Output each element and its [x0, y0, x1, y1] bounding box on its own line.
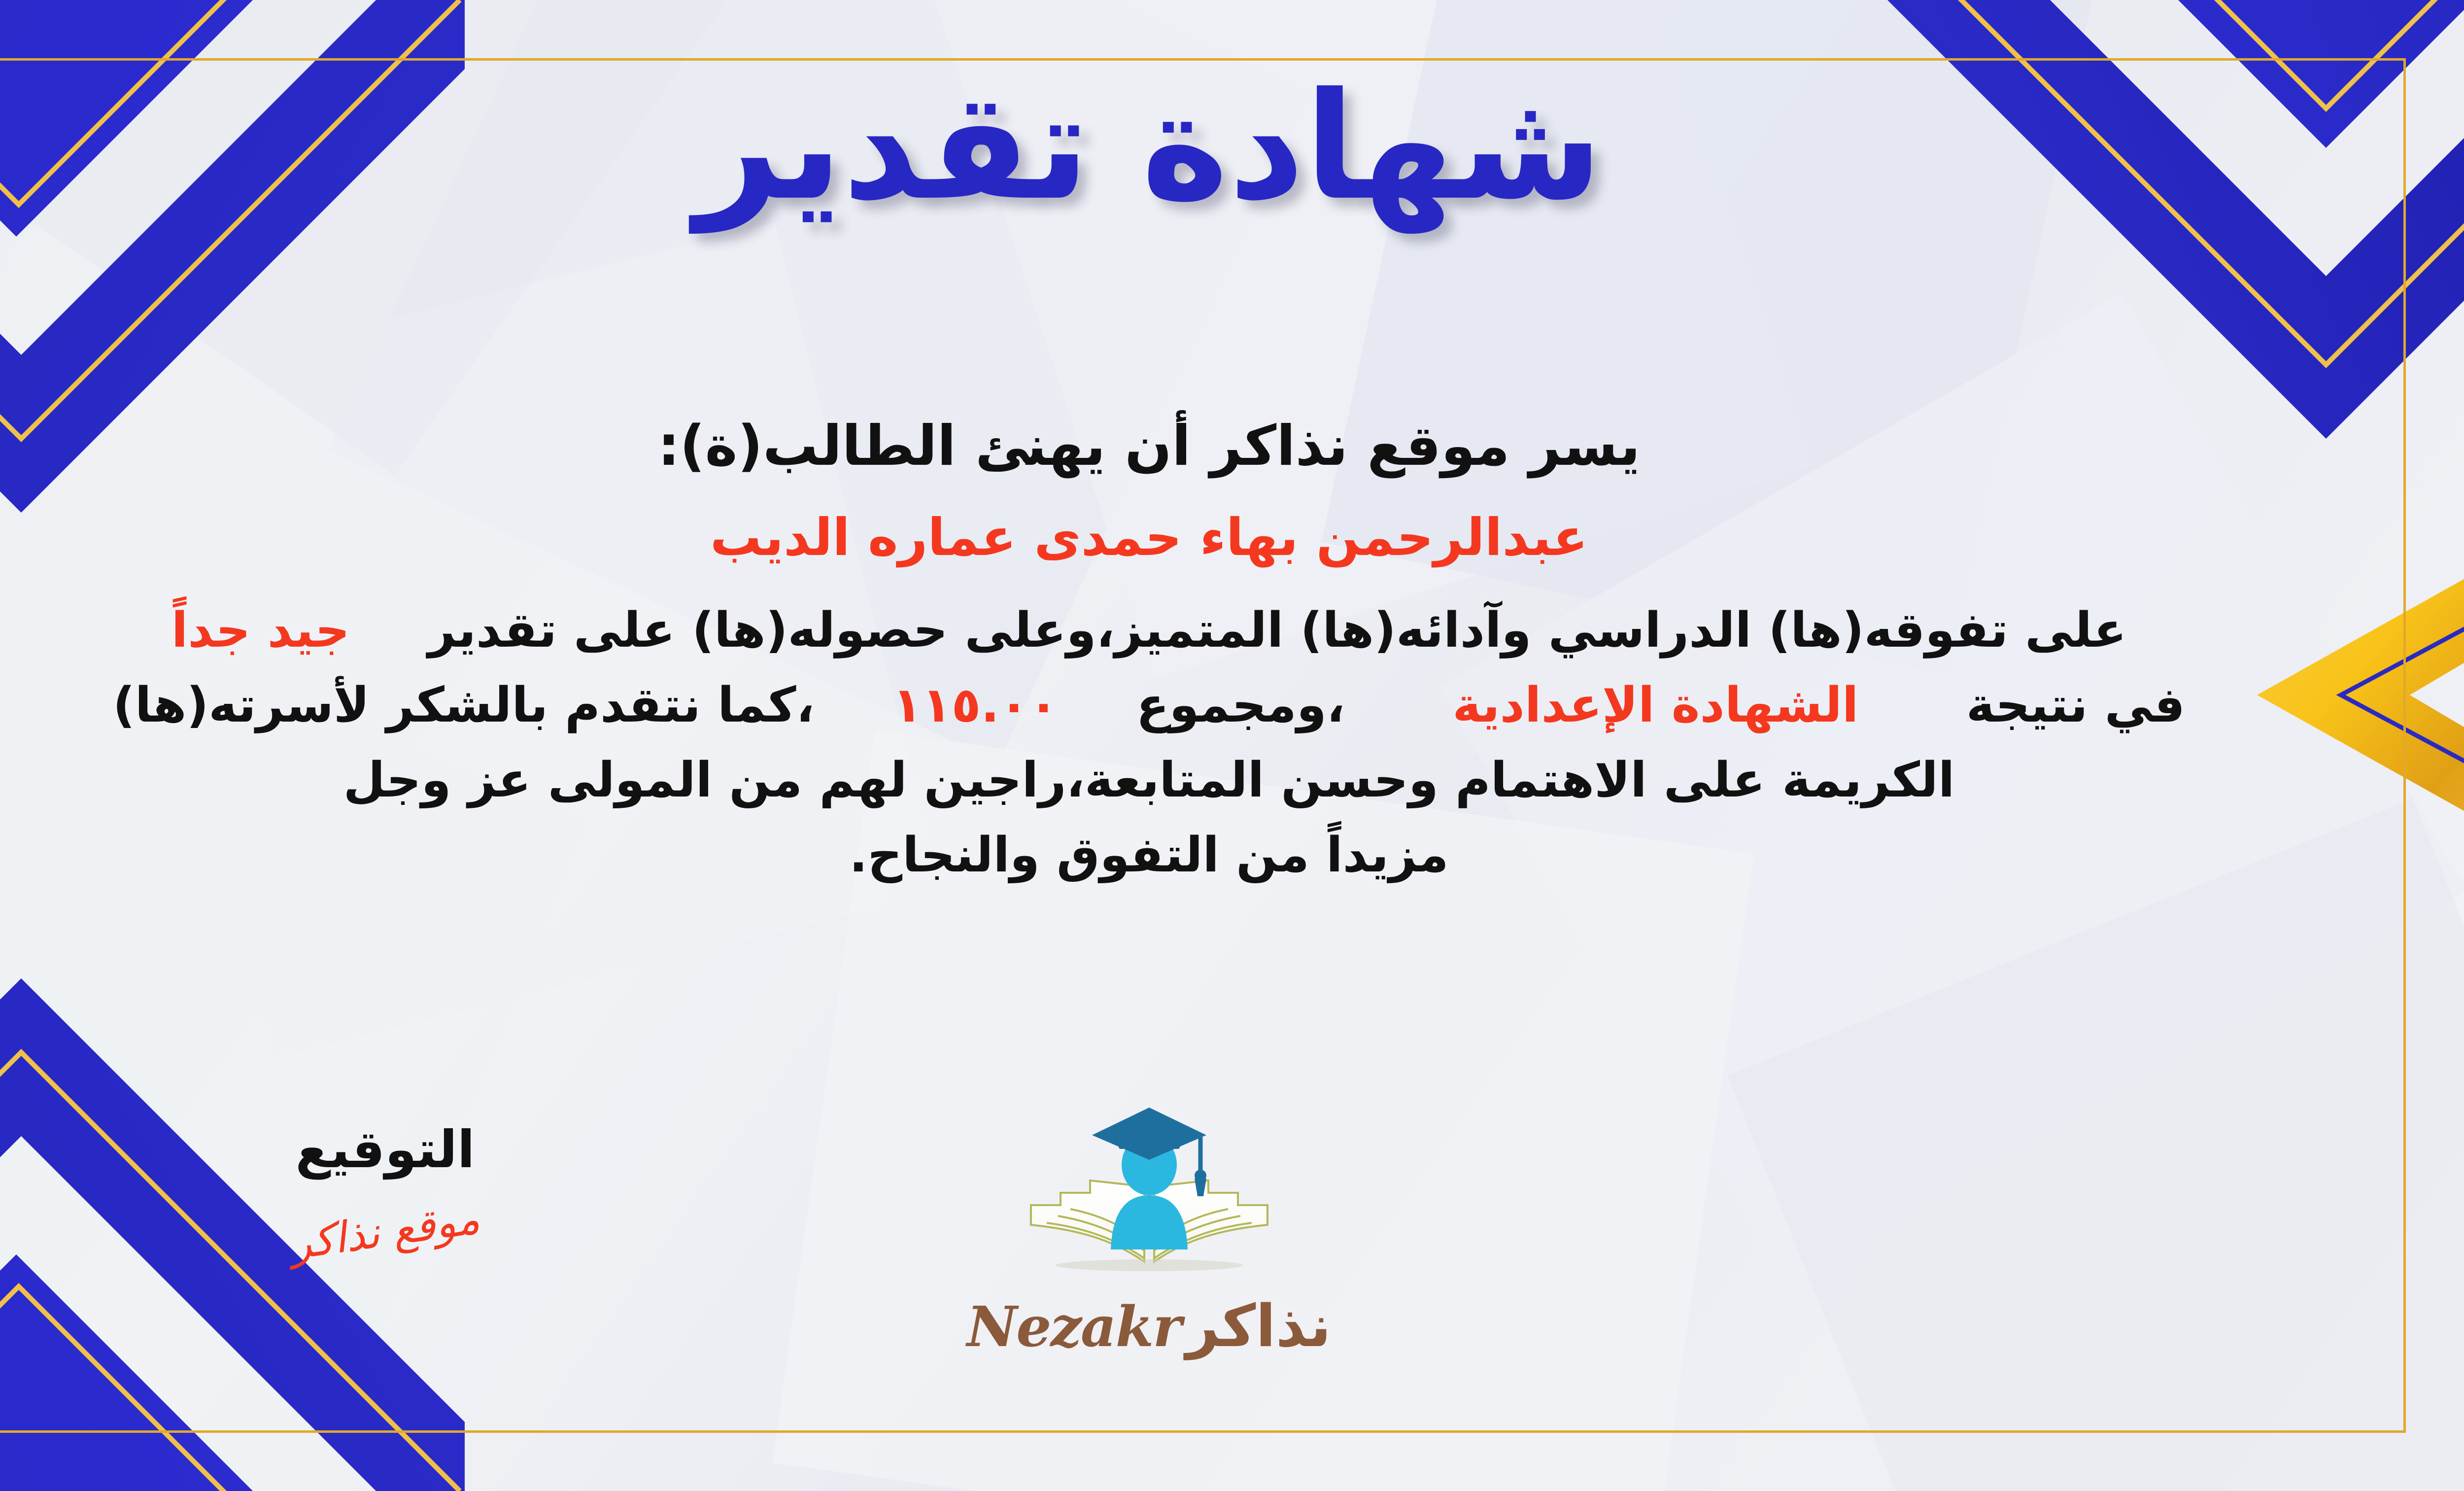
- total-label: ،ومجموع: [1136, 677, 1345, 733]
- certificate-page: شهادة تقدير يسر موقع نذاكر أن يهنئ الطال…: [0, 0, 2464, 1491]
- brand-name-latin: Nezakr: [967, 1295, 1181, 1359]
- brand-wordmark: Nezakr نذاكر: [967, 1292, 1331, 1360]
- exam-name: الشهادة الإعدادية: [1452, 677, 1858, 733]
- citation-line-3: الكريمة على الاهتمام وحسن المتابعة،راجين…: [0, 743, 2316, 818]
- certificate-title: شهادة تقدير: [0, 69, 2464, 224]
- brand-name-arabic: نذاكر: [1186, 1292, 1331, 1360]
- thanks-text: ،كما نتقدم بالشكر لأسرته(ها): [113, 677, 815, 733]
- citation-line-1: على تفوقه(ها) الدراسي وآدائه(ها) المتميز…: [0, 593, 2316, 668]
- score-value: ١١٥.٠٠: [892, 677, 1058, 733]
- certificate-footer: التوقيع موقع نذاكر: [0, 1102, 2464, 1417]
- graduate-on-book-icon: [1011, 1102, 1287, 1289]
- citation-line-4: مزيداً من التفوق والنجاح.: [0, 818, 2316, 893]
- brand-logo: Nezakr نذاكر: [0, 1102, 2464, 1360]
- exam-prefix-text: في نتيجة: [1966, 677, 2185, 733]
- student-name: عبدالرحمن بهاء حمدى عماره الديب: [0, 504, 2316, 571]
- intro-line: يسر موقع نذاكر أن يهنئ الطالب(ة):: [0, 409, 2316, 484]
- citation-line-1-text: على تفوقه(ها) الدراسي وآدائه(ها) المتميز…: [428, 602, 2126, 659]
- citation-line-2: في نتيجة الشهادة الإعدادية ،ومجموع ١١٥.٠…: [0, 668, 2316, 743]
- certificate-body: يسر موقع نذاكر أن يهنئ الطالب(ة): عبدالر…: [0, 409, 2316, 893]
- grade-value: جيد جداً: [171, 602, 350, 659]
- citation-paragraph: على تفوقه(ها) الدراسي وآدائه(ها) المتميز…: [0, 593, 2316, 893]
